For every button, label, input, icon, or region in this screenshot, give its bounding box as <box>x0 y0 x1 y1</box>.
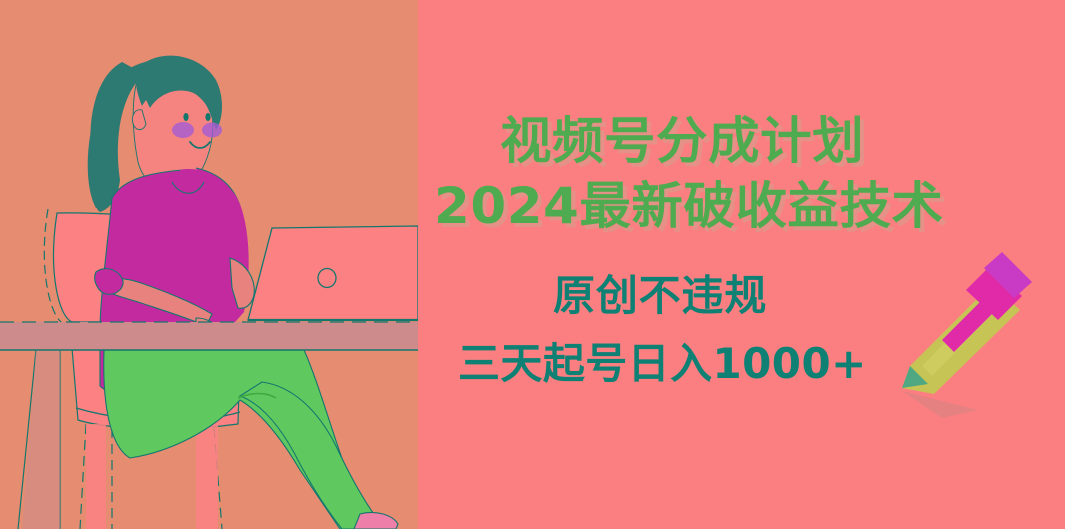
desk-top <box>0 322 418 350</box>
blush-right <box>202 123 222 138</box>
blush-left <box>172 122 194 138</box>
subtitle-line-2: 三天起号日入1000+ <box>458 340 867 388</box>
poster-canvas: 视频号分成计划 2024最新破收益技术 原创不违规 三天起号日入1000+ <box>0 0 1065 529</box>
subtitle-line-1: 原创不违规 <box>553 272 767 320</box>
laptop-graphic <box>248 226 418 320</box>
woman-working-on-laptop-illustration <box>0 0 418 529</box>
pencil-icon <box>880 248 1060 433</box>
headline-line-2: 2024最新破收益技术 <box>434 178 944 234</box>
pencil-shadow <box>902 391 978 418</box>
eye-left <box>183 113 188 121</box>
pencil-graphic <box>880 248 1060 433</box>
headline-line-1: 视频号分成计划 <box>500 113 864 169</box>
illustration-panel <box>0 0 418 529</box>
eye-right <box>205 113 210 121</box>
